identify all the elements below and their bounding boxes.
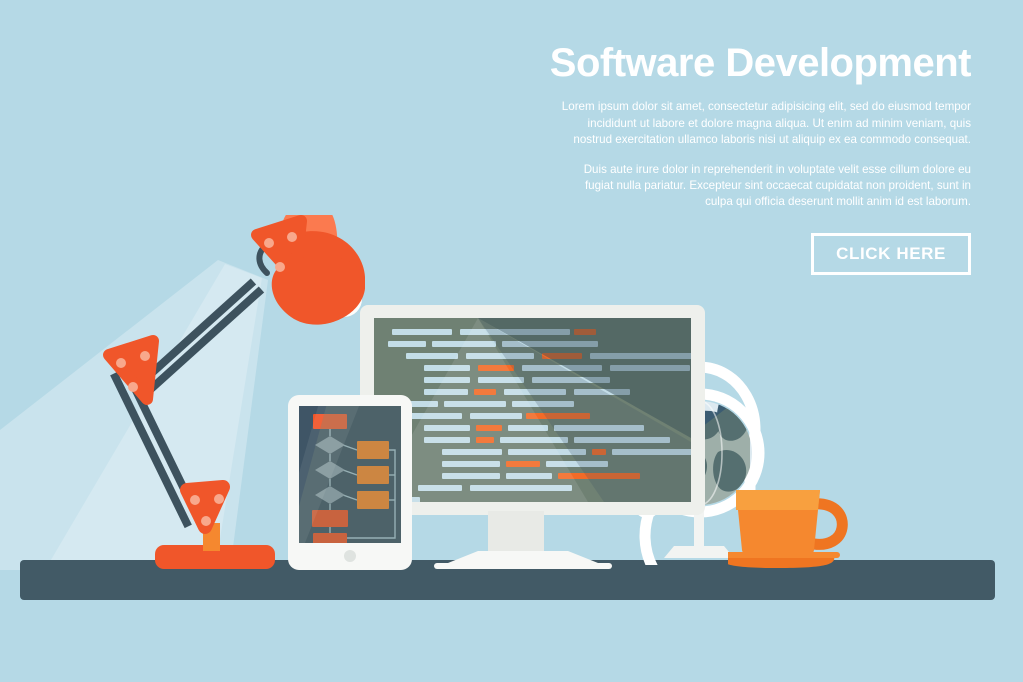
tablet-device bbox=[288, 395, 412, 570]
coffee-cup bbox=[728, 478, 848, 568]
header-paragraph-1: Lorem ipsum dolor sit amet, consectetur … bbox=[561, 99, 971, 148]
header-paragraph-2: Duis aute irure dolor in reprehenderit i… bbox=[561, 162, 971, 211]
header-text-block: Software Development Lorem ipsum dolor s… bbox=[371, 42, 971, 275]
tablet-screen bbox=[299, 406, 401, 543]
cup-saucer-rim bbox=[728, 552, 840, 558]
tablet-home-button[interactable] bbox=[344, 550, 356, 562]
flowchart-diagram bbox=[299, 406, 401, 543]
monitor-screen-shading bbox=[374, 318, 691, 502]
cup-body-highlight bbox=[736, 490, 820, 510]
illustration-canvas: Software Development Lorem ipsum dolor s… bbox=[0, 0, 1023, 682]
monitor-screen bbox=[374, 318, 691, 502]
click-here-button[interactable]: CLICK HERE bbox=[811, 233, 971, 275]
page-title: Software Development bbox=[371, 42, 971, 85]
